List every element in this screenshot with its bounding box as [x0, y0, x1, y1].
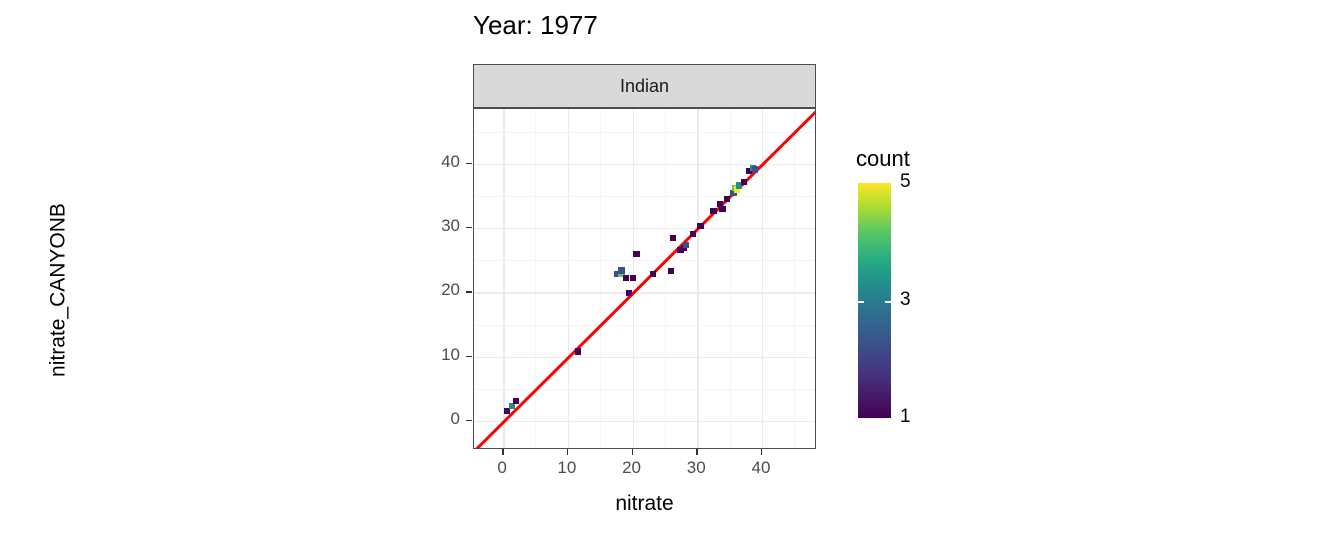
gridline-minor-horizontal — [474, 132, 815, 133]
gridline-major-horizontal — [474, 292, 815, 293]
gridline-minor-vertical — [600, 109, 601, 448]
gridline-major-vertical — [762, 109, 763, 448]
x-axis-tick-label: 0 — [482, 458, 522, 478]
x-axis-tick-label: 20 — [612, 458, 652, 478]
data-bin — [668, 268, 674, 274]
gridline-major-vertical — [503, 109, 504, 448]
x-axis-tick — [567, 449, 568, 455]
gridline-minor-vertical — [794, 109, 795, 448]
y-axis-tick-label: 0 — [416, 409, 460, 429]
data-bin — [752, 166, 758, 172]
legend-tick-mark — [885, 301, 891, 303]
gridline-minor-vertical — [535, 109, 536, 448]
x-axis-tick — [696, 449, 697, 455]
gridline-major-vertical — [697, 109, 698, 448]
data-bin — [719, 206, 725, 212]
y-axis-tick — [466, 291, 472, 292]
gridline-major-horizontal — [474, 421, 815, 422]
data-bin — [724, 196, 730, 202]
y-axis-tick-label: 20 — [416, 280, 460, 300]
legend-tick-mark — [858, 301, 864, 303]
y-axis-tick — [466, 420, 472, 421]
data-bin — [710, 208, 716, 214]
x-axis-tick-label: 10 — [547, 458, 587, 478]
gridline-major-vertical — [568, 109, 569, 448]
gridline-minor-horizontal — [474, 196, 815, 197]
y-axis-tick — [466, 227, 472, 228]
x-axis-tick — [502, 449, 503, 455]
chart-root: Year: 1977 Indian 010203040010203040 nit… — [0, 0, 1344, 537]
data-bin — [513, 398, 519, 404]
facet-strip: Indian — [473, 64, 816, 108]
y-axis-tick — [466, 356, 472, 357]
facet-strip-label: Indian — [620, 76, 669, 97]
data-bin — [683, 242, 689, 248]
gridline-minor-vertical — [665, 109, 666, 448]
plot-panel — [473, 108, 816, 449]
data-bin — [626, 290, 632, 296]
plot-area — [474, 109, 815, 448]
legend-tick-label: 3 — [900, 289, 911, 311]
x-axis-tick-label: 40 — [741, 458, 781, 478]
data-bin — [633, 251, 639, 257]
gridline-minor-vertical — [730, 109, 731, 448]
data-bin — [670, 235, 676, 241]
gridline-minor-horizontal — [474, 389, 815, 390]
y-axis-title: nitrate_CANYONB — [47, 119, 71, 462]
page-title: Year: 1977 — [473, 10, 873, 41]
x-axis-title: nitrate — [473, 492, 816, 516]
gridline-major-horizontal — [474, 357, 815, 358]
legend-title: count — [856, 146, 910, 172]
data-bin — [575, 348, 581, 354]
y-axis-tick-label: 40 — [416, 152, 460, 172]
data-bin — [697, 223, 703, 229]
y-axis-tick-label: 10 — [416, 345, 460, 365]
gridline-minor-horizontal — [474, 325, 815, 326]
y-axis-tick — [466, 163, 472, 164]
x-axis-tick — [632, 449, 633, 455]
x-axis-tick — [761, 449, 762, 455]
data-bin — [650, 271, 656, 277]
gridline-minor-horizontal — [474, 260, 815, 261]
y-axis-tick-label: 30 — [416, 216, 460, 236]
data-bin — [690, 231, 696, 237]
data-bin — [623, 275, 629, 281]
data-bin — [618, 267, 624, 273]
x-axis-tick-label: 30 — [676, 458, 716, 478]
legend-tick-label: 5 — [900, 171, 911, 193]
identity-reference-line — [473, 109, 816, 449]
data-bin — [630, 275, 636, 281]
data-bin — [741, 179, 747, 185]
legend-tick-label: 1 — [900, 406, 911, 428]
gridline-major-horizontal — [474, 228, 815, 229]
